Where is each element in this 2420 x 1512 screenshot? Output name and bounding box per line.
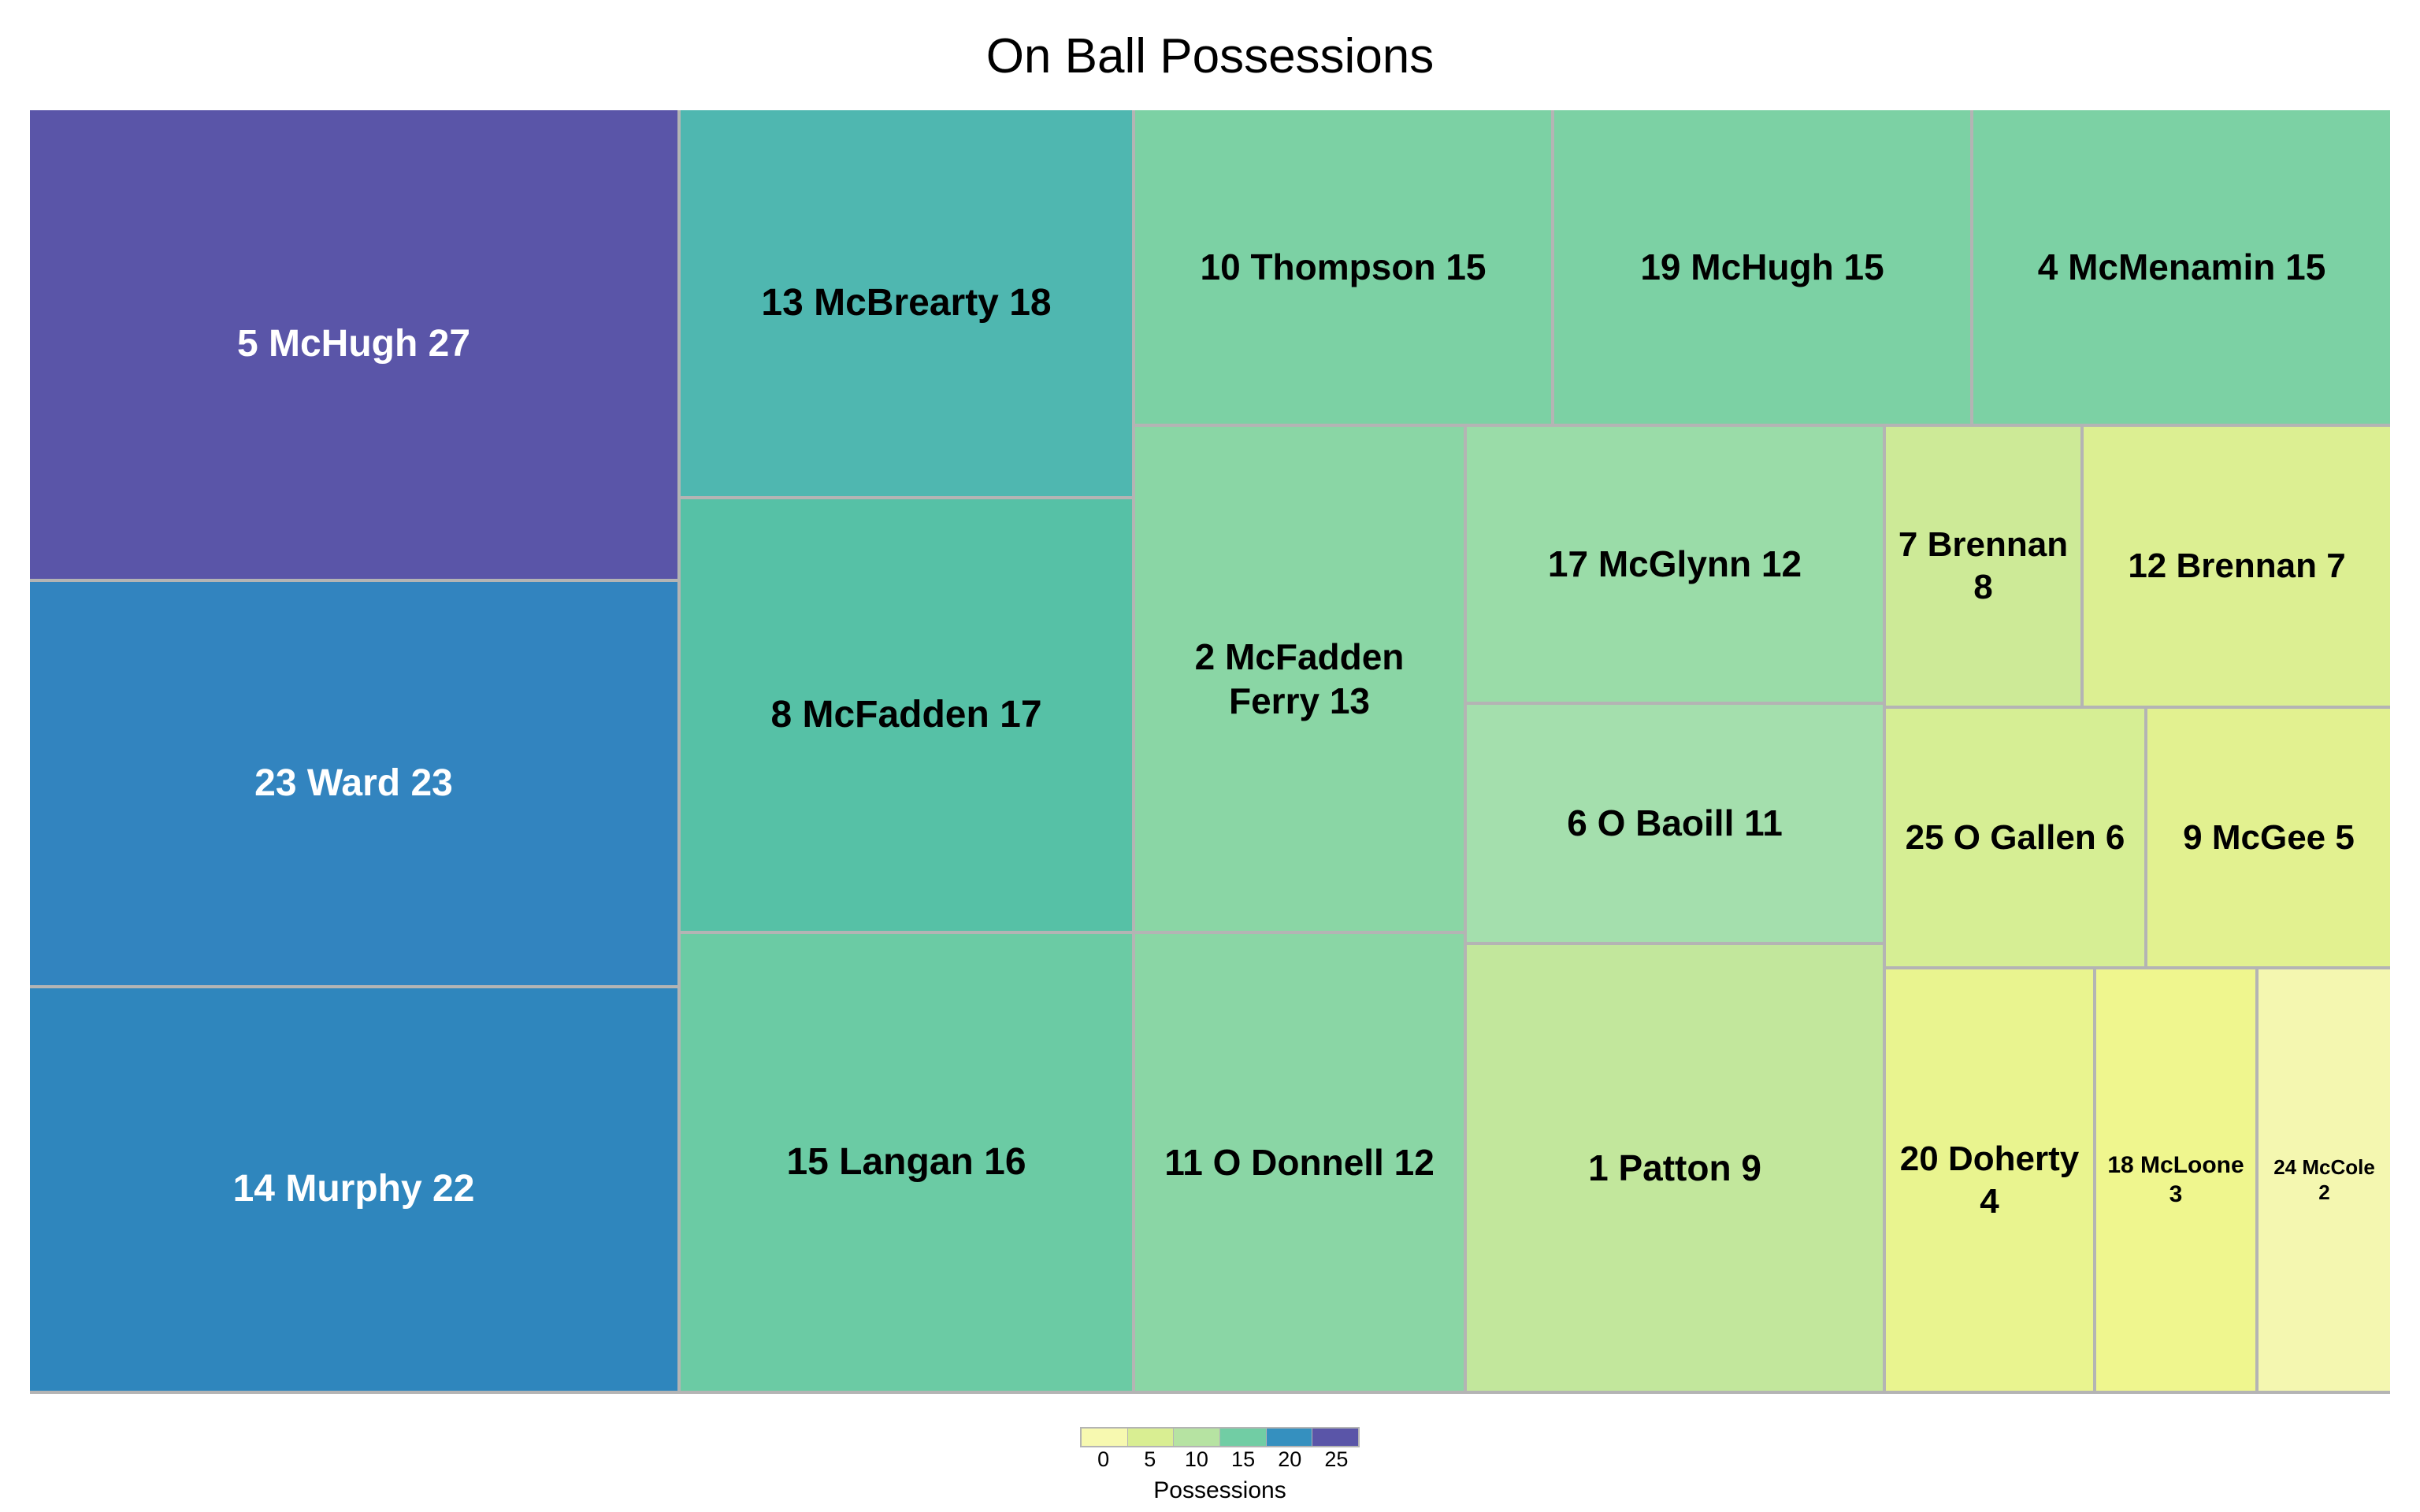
colorbar-tick-labels: 0510152025 <box>1080 1447 1360 1474</box>
colorbar-swatch <box>1174 1429 1220 1446</box>
colorbar-swatch <box>1312 1429 1358 1446</box>
colorbar-swatch <box>1220 1429 1267 1446</box>
colorbar-tick: 15 <box>1231 1447 1255 1472</box>
treemap-tile[interactable]: 20 Doherty 4 <box>1886 969 2093 1391</box>
treemap-tile-label: 17 McGlynn 12 <box>1470 542 1880 586</box>
treemap-tile[interactable]: 19 McHugh 15 <box>1554 110 1970 424</box>
treemap-tile-label: 24 McCole 2 <box>2262 1155 2387 1205</box>
treemap-chart: On Ball Possessions 5 McHugh 2723 Ward 2… <box>0 0 2420 1512</box>
treemap-tile-label: 6 O Baoill 11 <box>1470 801 1880 845</box>
treemap-tile[interactable]: 4 McMenamin 15 <box>1973 110 2390 424</box>
treemap-tile[interactable]: 13 McBrearty 18 <box>681 110 1132 496</box>
colorbar-tick: 20 <box>1278 1447 1301 1472</box>
treemap-tile-label: 20 Doherty 4 <box>1889 1138 2090 1222</box>
treemap-tile-label: 1 Patton 9 <box>1470 1146 1880 1190</box>
colorbar-legend: 0510152025 Possessions <box>1080 1427 1360 1474</box>
treemap-tile-label: 4 McMenamin 15 <box>1976 245 2387 289</box>
treemap-tile-label: 10 Thompson 15 <box>1138 245 1548 289</box>
treemap-tile[interactable]: 12 Brennan 7 <box>2084 427 2390 706</box>
page-title: On Ball Possessions <box>0 28 2420 84</box>
treemap-tile[interactable]: 18 McLoone 3 <box>2096 969 2255 1391</box>
colorbar-caption: Possessions <box>1080 1477 1360 1504</box>
colorbar-swatch <box>1082 1429 1128 1446</box>
treemap-tile[interactable]: 6 O Baoill 11 <box>1467 705 1883 942</box>
treemap-tile-label: 23 Ward 23 <box>33 761 674 807</box>
colorbar-swatch <box>1128 1429 1175 1446</box>
treemap-tile[interactable]: 7 Brennan 8 <box>1886 427 2080 706</box>
treemap-tile[interactable]: 8 McFadden 17 <box>681 499 1132 931</box>
treemap-tile[interactable]: 24 McCole 2 <box>2259 969 2390 1391</box>
treemap-tile[interactable]: 5 McHugh 27 <box>30 110 677 579</box>
treemap-tile[interactable]: 17 McGlynn 12 <box>1467 427 1883 702</box>
treemap-tile[interactable]: 1 Patton 9 <box>1467 945 1883 1391</box>
colorbar-tick: 10 <box>1185 1447 1208 1472</box>
treemap-tile[interactable]: 2 McFadden Ferry 13 <box>1135 427 1464 931</box>
treemap-tile[interactable]: 15 Langan 16 <box>681 934 1132 1391</box>
treemap-tile-label: 14 Murphy 22 <box>33 1166 674 1213</box>
treemap-tile-label: 5 McHugh 27 <box>33 321 674 368</box>
treemap-tile-label: 7 Brennan 8 <box>1889 524 2077 608</box>
treemap-tile-label: 15 Langan 16 <box>684 1140 1129 1186</box>
colorbar-gradient <box>1080 1427 1360 1447</box>
treemap-plot-area: 5 McHugh 2723 Ward 2314 Murphy 2213 McBr… <box>30 110 2390 1394</box>
treemap-tile-label: 18 McLoone 3 <box>2099 1151 2252 1209</box>
treemap-tile-label: 25 O Gallen 6 <box>1889 817 2141 859</box>
colorbar-swatch <box>1267 1429 1313 1446</box>
treemap-tile-label: 2 McFadden Ferry 13 <box>1138 635 1461 723</box>
colorbar-tick: 5 <box>1144 1447 1156 1472</box>
treemap-tile-label: 8 McFadden 17 <box>684 692 1129 739</box>
treemap-tile-label: 11 O Donnell 12 <box>1138 1140 1461 1184</box>
treemap-tile-label: 13 McBrearty 18 <box>684 280 1129 327</box>
treemap-tile[interactable]: 9 McGee 5 <box>2147 709 2390 966</box>
treemap-tile[interactable]: 23 Ward 23 <box>30 582 677 985</box>
treemap-tile-label: 9 McGee 5 <box>2151 817 2387 859</box>
treemap-tile-label: 19 McHugh 15 <box>1557 245 1967 289</box>
treemap-tile[interactable]: 25 O Gallen 6 <box>1886 709 2144 966</box>
colorbar-tick: 25 <box>1324 1447 1348 1472</box>
treemap-tile[interactable]: 11 O Donnell 12 <box>1135 934 1464 1391</box>
treemap-tile[interactable]: 10 Thompson 15 <box>1135 110 1551 424</box>
treemap-tile[interactable]: 14 Murphy 22 <box>30 988 677 1391</box>
colorbar-tick: 0 <box>1097 1447 1109 1472</box>
treemap-tile-label: 12 Brennan 7 <box>2087 545 2387 587</box>
